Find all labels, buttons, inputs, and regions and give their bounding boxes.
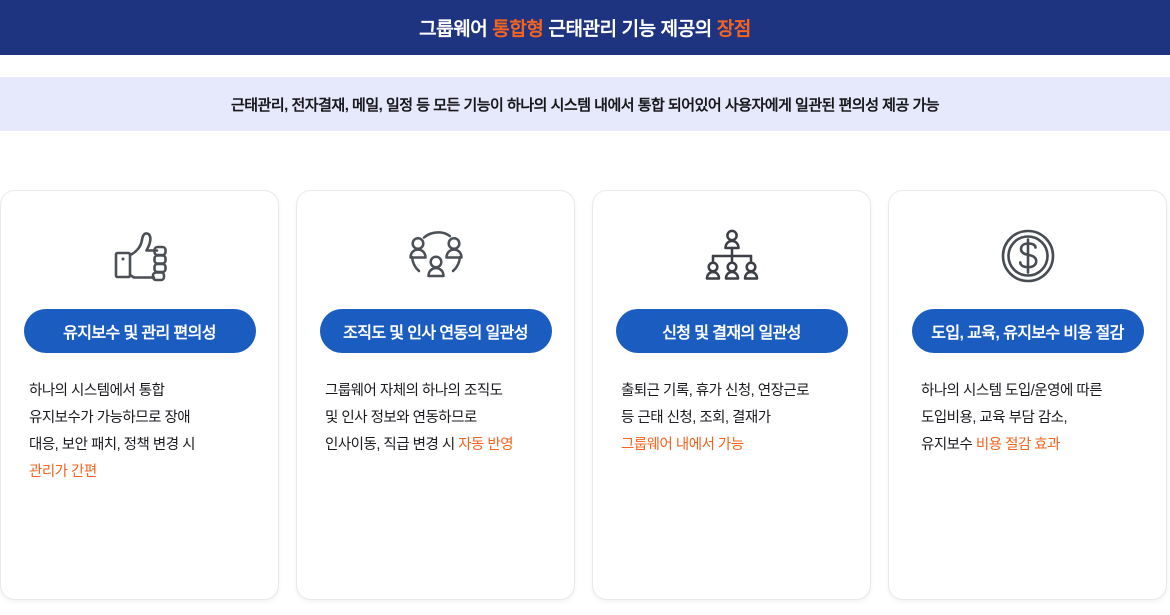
card-body-line: 그룹웨어 자체의 하나의 조직도 [325, 378, 546, 405]
card-body-line: 등 근태 신청, 조회, 결재가 [621, 405, 842, 432]
card-pill-org-sync[interactable]: 조직도 및 인사 연동의 일관성 [320, 309, 552, 353]
benefit-cards-container: 유지보수 및 관리 편의성 하나의 시스템에서 통합유지보수가 가능하므로 장애… [0, 131, 1170, 615]
header-band: 그룹웨어 통합형 근태관리 기능 제공의 장점 [0, 0, 1170, 55]
card-pill-approval[interactable]: 신청 및 결재의 일관성 [616, 309, 848, 353]
card-body-cost-saving: 하나의 시스템 도입/운영에 따른도입비용, 교육 부담 감소,유지보수 비용 … [889, 378, 1166, 459]
org-chart-icon [696, 223, 768, 289]
dollar-coin-icon [992, 223, 1064, 289]
card-body-line: 인사이동, 직급 변경 시 자동 반영 [325, 432, 546, 459]
thumbs-up-icon [104, 223, 176, 289]
card-body-line: 하나의 시스템 도입/운영에 따른 [921, 378, 1138, 405]
card-pill-maintenance[interactable]: 유지보수 및 관리 편의성 [24, 309, 256, 353]
people-network-icon [400, 223, 472, 289]
subtitle-band: 근태관리, 전자결재, 메일, 일정 등 모든 기능이 하나의 시스템 내에서 … [0, 77, 1170, 131]
benefit-card-maintenance[interactable]: 유지보수 및 관리 편의성 하나의 시스템에서 통합유지보수가 가능하므로 장애… [0, 190, 279, 600]
card-body-accent: 자동 반영 [458, 437, 513, 453]
benefit-card-cost-saving[interactable]: 도입, 교육, 유지보수 비용 절감 하나의 시스템 도입/운영에 따른도입비용… [888, 190, 1167, 600]
card-body-line: 하나의 시스템에서 통합 [29, 378, 250, 405]
header-spacer [0, 55, 1170, 77]
card-body-accent: 비용 절감 효과 [976, 437, 1060, 453]
subtitle-text: 근태관리, 전자결재, 메일, 일정 등 모든 기능이 하나의 시스템 내에서 … [231, 94, 939, 115]
card-pill-label: 신청 및 결재의 일관성 [662, 319, 801, 343]
card-body-line: 유지보수가 가능하므로 장애 [29, 405, 250, 432]
card-body-line: 대응, 보안 패치, 정책 변경 시 [29, 432, 250, 459]
card-pill-cost-saving[interactable]: 도입, 교육, 유지보수 비용 절감 [912, 309, 1144, 353]
card-body-line: 유지보수 비용 절감 효과 [921, 432, 1138, 459]
card-pill-label: 도입, 교육, 유지보수 비용 절감 [931, 319, 1124, 343]
card-body-org-sync: 그룹웨어 자체의 하나의 조직도및 인사 정보와 연동하므로인사이동, 직급 변… [297, 378, 574, 459]
card-body-accent: 관리가 간편 [29, 464, 97, 480]
card-body-line: 그룹웨어 내에서 가능 [621, 432, 842, 459]
benefit-card-org-sync[interactable]: 조직도 및 인사 연동의 일관성 그룹웨어 자체의 하나의 조직도및 인사 정보… [296, 190, 575, 600]
card-body-maintenance: 하나의 시스템에서 통합유지보수가 가능하므로 장애대응, 보안 패치, 정책 … [1, 378, 278, 486]
card-body-approval: 출퇴근 기록, 휴가 신청, 연장근로등 근태 신청, 조회, 결재가그룹웨어 … [593, 378, 870, 459]
card-body-line: 도입비용, 교육 부담 감소, [921, 405, 1138, 432]
card-body-line: 관리가 간편 [29, 459, 250, 486]
card-pill-label: 조직도 및 인사 연동의 일관성 [343, 319, 528, 343]
card-body-accent: 그룹웨어 내에서 가능 [621, 437, 744, 453]
card-body-line: 및 인사 정보와 연동하므로 [325, 405, 546, 432]
benefit-card-approval[interactable]: 신청 및 결재의 일관성 출퇴근 기록, 휴가 신청, 연장근로등 근태 신청,… [592, 190, 871, 600]
card-pill-label: 유지보수 및 관리 편의성 [63, 319, 216, 343]
card-body-line: 출퇴근 기록, 휴가 신청, 연장근로 [621, 378, 842, 405]
page-title: 그룹웨어 통합형 근태관리 기능 제공의 장점 [419, 14, 751, 41]
